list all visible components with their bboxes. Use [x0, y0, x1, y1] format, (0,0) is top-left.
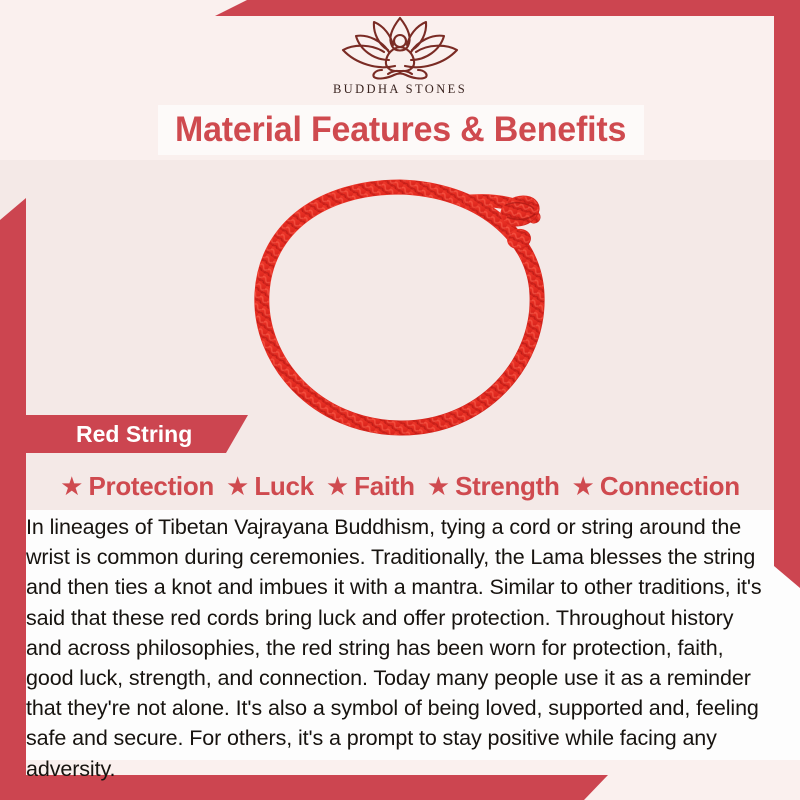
brand-logo: BUDDHA STONES	[0, 14, 800, 97]
benefits-row: ★Protection★Luck★Faith★Strength★Connecti…	[0, 466, 800, 506]
title-plate: Material Features & Benefits	[158, 105, 644, 155]
cord-loop-braid	[262, 187, 537, 428]
benefit-item: ★Strength	[427, 471, 560, 502]
benefit-label: Luck	[254, 471, 313, 502]
benefit-item: ★Luck	[226, 471, 314, 502]
brand-name: BUDDHA STONES	[0, 82, 800, 97]
benefit-label: Faith	[354, 471, 415, 502]
product-label-banner: Red String	[26, 415, 248, 453]
product-label: Red String	[26, 421, 192, 448]
star-icon: ★	[226, 473, 249, 499]
benefit-item: ★Connection	[572, 471, 740, 502]
star-icon: ★	[60, 473, 83, 499]
star-icon: ★	[326, 473, 349, 499]
page-title: Material Features & Benefits	[175, 110, 626, 150]
infographic-page: BUDDHA STONES Material Features & Benefi…	[0, 0, 800, 800]
lotus-meditation-icon	[332, 14, 468, 80]
star-icon: ★	[427, 473, 450, 499]
benefit-item: ★Faith	[326, 471, 415, 502]
benefit-label: Strength	[455, 471, 559, 502]
benefit-label: Protection	[88, 471, 214, 502]
star-icon: ★	[572, 473, 595, 499]
description-text: In lineages of Tibetan Vajrayana Buddhis…	[26, 512, 774, 784]
benefit-item: ★Protection	[60, 471, 214, 502]
benefit-label: Connection	[600, 471, 740, 502]
